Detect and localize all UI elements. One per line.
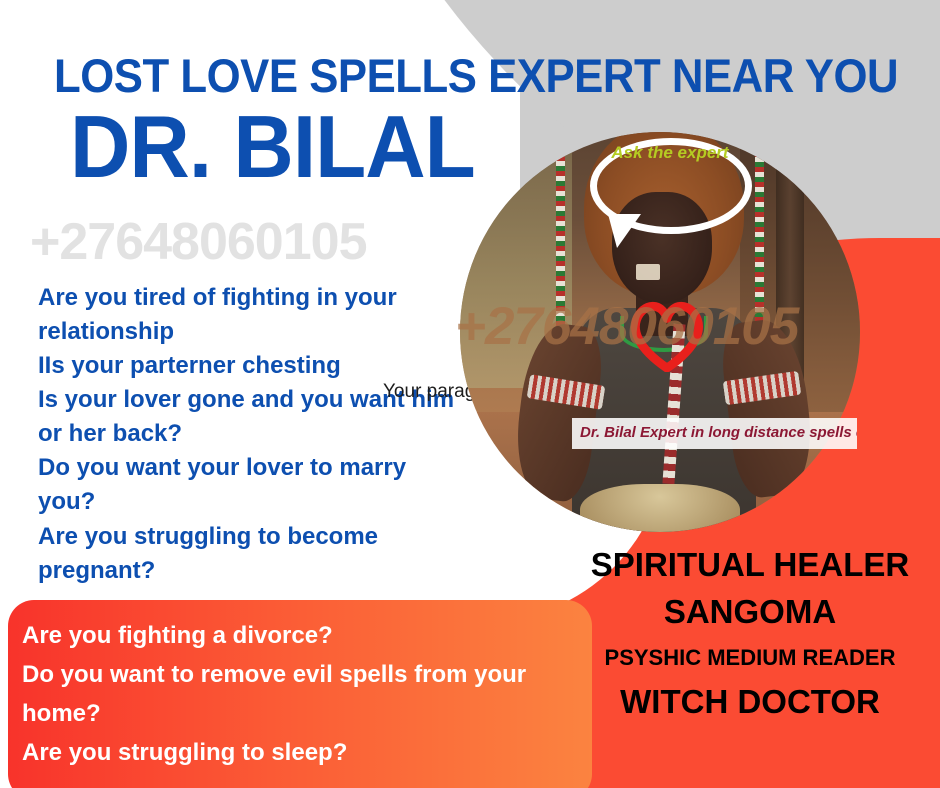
photo-bead-strand-left bbox=[556, 156, 565, 332]
question-item: IIs your parterner chesting bbox=[38, 349, 468, 383]
services-list: SPIRITUAL HEALER SANGOMA PSYSHIC MEDIUM … bbox=[560, 544, 940, 724]
photo-teeth bbox=[636, 264, 660, 280]
service-item-sangoma: SANGOMA bbox=[560, 591, 940, 634]
heart-icon bbox=[628, 300, 706, 372]
orange-question-card: Are you fighting a divorce? Do you want … bbox=[8, 600, 592, 788]
question-item: Are you tired of fighting in your relati… bbox=[38, 281, 468, 349]
photo-basket bbox=[580, 484, 740, 532]
service-item-witch-doctor: WITCH DOCTOR bbox=[560, 681, 940, 724]
question-item: Are you struggling to become pregnant? bbox=[38, 520, 468, 588]
photo-caption: Dr. Bilal Expert in long distance spells… bbox=[572, 418, 857, 449]
service-item-spiritual-healer: SPIRITUAL HEALER bbox=[560, 544, 940, 585]
service-item-psychic-medium-reader: PSYSHIC MEDIUM READER bbox=[560, 644, 940, 673]
brand-name: DR. BILAL bbox=[70, 103, 475, 191]
healer-photo: Ask the expert bbox=[460, 132, 860, 532]
question-item: Do you want your lover to marry you? bbox=[38, 451, 468, 519]
page-title: LOST LOVE SPELLS EXPERT NEAR YOU bbox=[54, 52, 845, 99]
question-list-card: Are you fighting a divorce? Do you want … bbox=[22, 617, 562, 773]
question-item: Do you want to remove evil spells from y… bbox=[22, 656, 562, 734]
photo-bead-strand-right bbox=[755, 152, 764, 328]
speech-bubble-label: Ask the expert bbox=[610, 140, 730, 166]
poster-canvas: LOST LOVE SPELLS EXPERT NEAR YOU DR. BIL… bbox=[0, 0, 940, 788]
question-list-blue: Are you tired of fighting in your relati… bbox=[38, 281, 468, 588]
question-item: Are you fighting a divorce? bbox=[22, 617, 562, 656]
question-item: Are you struggling to sleep? bbox=[22, 734, 562, 773]
speech-bubble-tail-icon bbox=[608, 214, 641, 248]
watermark-phone-number: +27648060105 bbox=[30, 212, 367, 272]
